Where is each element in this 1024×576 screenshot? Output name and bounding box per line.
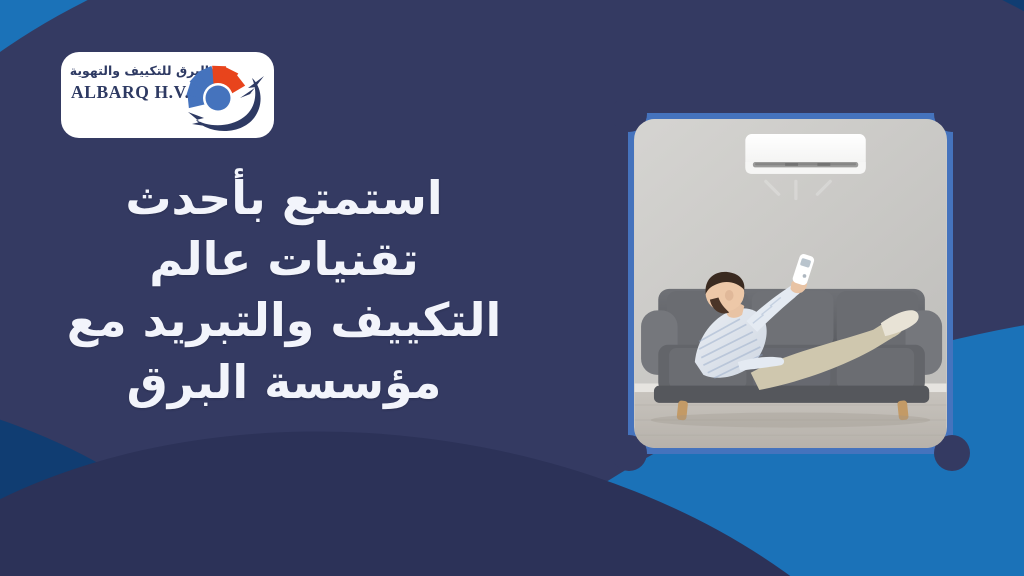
promo-banner: البرق للتكييف والتهوية ALBARQ H.V.A.C bbox=[0, 0, 1024, 576]
headline-line-4: مؤسسة البرق bbox=[49, 352, 519, 413]
grey-three-seat-sofa bbox=[641, 289, 942, 421]
man-with-remote-under-ac-photo bbox=[634, 119, 947, 448]
fan-burst-lightning-icon bbox=[178, 54, 270, 138]
headline: استمتع بأحدث تقنيات عالم التكييف والتبري… bbox=[49, 168, 519, 413]
headline-line-2: تقنيات عالم bbox=[49, 229, 519, 290]
photo-frame bbox=[628, 113, 953, 454]
headline-line-1: استمتع بأحدث bbox=[49, 168, 519, 229]
headline-line-3: التكييف والتبريد مع bbox=[49, 290, 519, 351]
logo-badge[interactable]: البرق للتكييف والتهوية ALBARQ H.V.A.C bbox=[61, 52, 274, 138]
